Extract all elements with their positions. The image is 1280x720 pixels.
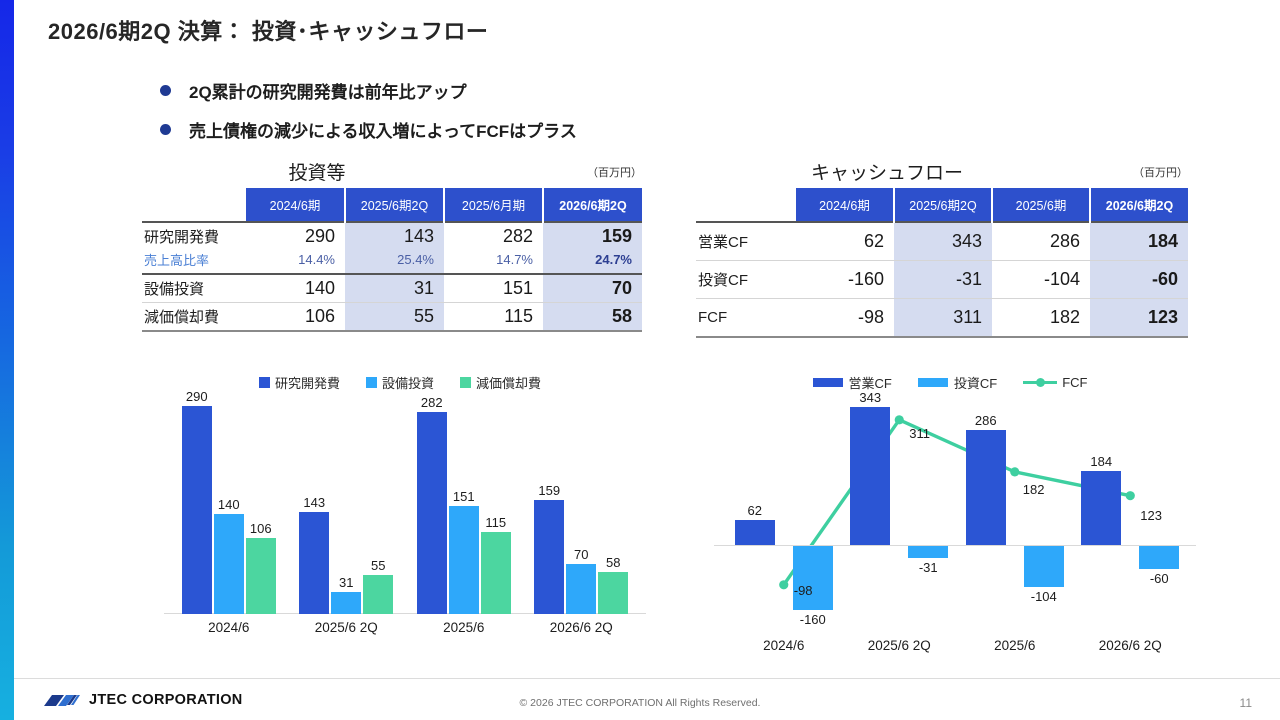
bar-投資CF-2025/6 [1024,545,1064,587]
table-row: 減価償却費 106 55 115 58 [142,303,642,332]
cell-depreciation-fy2024: 106 [246,303,345,332]
bar-label: 290 [162,389,232,404]
bar-減価償却費-2025/6 [481,532,511,614]
category-label: 2025/6 2Q [842,638,958,653]
column-header-fy2024: 2024/6期 [246,188,345,222]
cell-ratio-fy2025-2q: 25.4% [345,250,444,274]
bullet-dot-icon [160,85,171,96]
left-accent-bar [0,0,14,720]
legend-item-operating-cf: 営業CF [813,373,892,392]
legend-label: 設備投資 [382,373,434,392]
cell-fcf-fy2026-2q: 123 [1090,299,1188,338]
bar-label: 286 [946,413,1026,428]
legend-swatch-icon [813,378,843,387]
bar-label: 106 [226,521,296,536]
bar-label: 343 [830,390,910,405]
line-point-label: 311 [909,426,955,441]
legend-label: 営業CF [849,373,892,392]
bullet-text: 売上債権の減少による収入増によってFCFはプラス [189,117,577,142]
bar-営業CF-2025/6 2Q [850,407,890,545]
line-point-label: 123 [1140,508,1186,523]
cashflow-chart: 営業CF 投資CF FCF 62-160343-31286-104184-60-… [700,372,1200,662]
table-row: FCF -98 311 182 123 [696,299,1188,338]
legend-swatch-icon [918,378,948,387]
cell-rnd-fy2026-2q: 159 [543,222,642,250]
row-label-capex: 設備投資 [142,274,246,303]
page-number: 11 [1240,696,1252,710]
investment-plot-area: 29014010614331552821511151597058 [150,392,650,614]
cashflow-plot-area: 62-160343-31286-104184-60-98311182123 [700,392,1200,632]
cell-icf-fy2025: -104 [992,261,1090,299]
page-title: 2026/6期2Q 決算： 投資･キャッシュフロー [48,14,488,46]
cell-rnd-fy2025-2q: 143 [345,222,444,250]
category-label: 2025/6 [957,638,1073,653]
column-header-blank [142,188,246,222]
investment-unit-label: （百万円） [587,164,642,180]
legend-item-rnd: 研究開発費 [259,373,340,392]
footer-divider [14,678,1280,679]
bullet-text: 2Q累計の研究開発費は前年比アップ [189,78,467,103]
cashflow-table: 2024/6期 2025/6期2Q 2025/6期 2026/6期2Q 営業CF… [696,188,1188,338]
table-header-row: 2024/6期 2025/6期2Q 2025/6月期 2026/6期2Q [142,188,642,222]
cell-rnd-fy2025: 282 [444,222,543,250]
cashflow-panel-header: キャッシュフロー （百万円） [696,158,1188,188]
bar-投資CF-2026/6 2Q [1139,545,1179,569]
legend-label: 減価償却費 [476,373,541,392]
category-label: 2024/6 [170,620,288,635]
cell-icf-fy2025-2q: -31 [894,261,992,299]
table-row: 売上高比率 14.4% 25.4% 14.7% 24.7% [142,250,642,274]
table-row: 営業CF 62 343 286 184 [696,222,1188,261]
bar-減価償却費-2025/6 2Q [363,575,393,614]
column-header-fy2025-2q: 2025/6期2Q [345,188,444,222]
bar-label: 58 [578,555,648,570]
column-header-fy2026-2q: 2026/6期2Q [543,188,642,222]
cell-depreciation-fy2026-2q: 58 [543,303,642,332]
cell-capex-fy2024: 140 [246,274,345,303]
legend-swatch-icon [460,377,471,388]
category-label: 2025/6 2Q [288,620,406,635]
column-header-fy2025: 2025/6月期 [444,188,543,222]
bar-減価償却費-2024/6 [246,538,276,614]
category-label: 2026/6 2Q [1073,638,1189,653]
column-header-fy2026-2q: 2026/6期2Q [1090,188,1188,222]
investment-panel-header: 投資等 （百万円） [142,158,642,188]
bar-label: -104 [1004,589,1084,604]
legend-label: 研究開発費 [275,373,340,392]
cell-ocf-fy2025-2q: 343 [894,222,992,261]
legend-item-depreciation: 減価償却費 [460,373,541,392]
line-point-label: 182 [1023,482,1069,497]
investment-category-axis: 2024/62025/6 2Q2025/62026/6 2Q [150,614,650,644]
cell-ratio-fy2026-2q: 24.7% [543,250,642,274]
table-row: 投資CF -160 -31 -104 -60 [696,261,1188,299]
legend-line-marker-icon [1023,377,1057,388]
investment-panel: 投資等 （百万円） 2024/6期 2025/6期2Q 2025/6月期 202… [142,158,642,332]
bar-label: 184 [1061,454,1141,469]
bar-減価償却費-2026/6 2Q [598,572,628,614]
row-label-investing-cf: 投資CF [696,261,796,299]
row-label-rnd: 研究開発費 [142,222,246,250]
investment-chart: 研究開発費 設備投資 減価償却費 29014010614331552821511… [150,372,650,652]
cashflow-chart-legend: 営業CF 投資CF FCF [700,372,1200,392]
cell-ocf-fy2024: 62 [796,222,894,261]
bar-研究開発費-2025/6 2Q [299,512,329,614]
investment-table: 2024/6期 2025/6期2Q 2025/6月期 2026/6期2Q 研究開… [142,188,642,332]
list-item: 売上債権の減少による収入増によってFCFはプラス [160,117,577,142]
cell-rnd-fy2024: 290 [246,222,345,250]
line-point-label: -98 [794,583,840,598]
bar-設備投資-2026/6 2Q [566,564,596,614]
cell-depreciation-fy2025: 115 [444,303,543,332]
cell-ocf-fy2025: 286 [992,222,1090,261]
legend-item-fcf: FCF [1023,375,1087,390]
bar-label: -60 [1119,571,1199,586]
bar-label: -160 [773,612,853,627]
cell-ocf-fy2026-2q: 184 [1090,222,1188,261]
row-label-sales-ratio: 売上高比率 [142,250,246,274]
category-label: 2024/6 [726,638,842,653]
cashflow-panel: キャッシュフロー （百万円） 2024/6期 2025/6期2Q 2025/6期… [696,158,1188,338]
cell-fcf-fy2024: -98 [796,299,894,338]
legend-label: FCF [1062,375,1087,390]
cashflow-table-title: キャッシュフロー [696,158,1078,185]
legend-item-investing-cf: 投資CF [918,373,997,392]
row-label-operating-cf: 営業CF [696,222,796,261]
bullet-dot-icon [160,124,171,135]
bar-営業CF-2025/6 [966,430,1006,545]
cashflow-category-axis: 2024/62025/6 2Q2025/62026/6 2Q [700,632,1200,662]
cell-depreciation-fy2025-2q: 55 [345,303,444,332]
legend-label: 投資CF [954,373,997,392]
bar-営業CF-2024/6 [735,520,775,545]
column-header-fy2025-2q: 2025/6期2Q [894,188,992,222]
legend-item-capex: 設備投資 [366,373,434,392]
bar-label: 62 [715,503,795,518]
slide: 2026/6期2Q 決算： 投資･キャッシュフロー 2Q累計の研究開発費は前年比… [0,0,1280,720]
cell-capex-fy2026-2q: 70 [543,274,642,303]
table-row: 研究開発費 290 143 282 159 [142,222,642,250]
cell-fcf-fy2025-2q: 311 [894,299,992,338]
table-header-row: 2024/6期 2025/6期2Q 2025/6期 2026/6期2Q [696,188,1188,222]
cell-ratio-fy2025: 14.7% [444,250,543,274]
bar-label: 151 [429,489,499,504]
table-row: 設備投資 140 31 151 70 [142,274,642,303]
bar-label: 282 [397,395,467,410]
bar-label: 115 [461,515,531,530]
category-label: 2025/6 [405,620,523,635]
bar-label: 143 [279,495,349,510]
cell-capex-fy2025: 151 [444,274,543,303]
bar-label: 55 [343,558,413,573]
legend-swatch-icon [366,377,377,388]
row-label-fcf: FCF [696,299,796,338]
investment-table-title: 投資等 [122,158,512,185]
cell-capex-fy2025-2q: 31 [345,274,444,303]
bar-投資CF-2025/6 2Q [908,545,948,558]
bar-投資CF-2024/6 [793,545,833,610]
zero-axis-line [714,545,1196,546]
column-header-fy2024: 2024/6期 [796,188,894,222]
cell-icf-fy2026-2q: -60 [1090,261,1188,299]
bar-label: 159 [514,483,584,498]
cell-fcf-fy2025: 182 [992,299,1090,338]
column-header-blank [696,188,796,222]
legend-swatch-icon [259,377,270,388]
bar-研究開発費-2025/6 [417,412,447,614]
cell-ratio-fy2024: 14.4% [246,250,345,274]
cell-icf-fy2024: -160 [796,261,894,299]
row-label-depreciation: 減価償却費 [142,303,246,332]
copyright-text: © 2026 JTEC CORPORATION All Rights Reser… [0,697,1280,709]
category-label: 2026/6 2Q [523,620,641,635]
column-header-fy2025: 2025/6期 [992,188,1090,222]
cashflow-unit-label: （百万円） [1133,164,1188,180]
bar-営業CF-2026/6 2Q [1081,471,1121,545]
bar-label: 140 [194,497,264,512]
bar-設備投資-2025/6 2Q [331,592,361,614]
bar-label: -31 [888,560,968,575]
list-item: 2Q累計の研究開発費は前年比アップ [160,78,577,103]
bullet-list: 2Q累計の研究開発費は前年比アップ 売上債権の減少による収入増によってFCFはプ… [160,78,577,156]
